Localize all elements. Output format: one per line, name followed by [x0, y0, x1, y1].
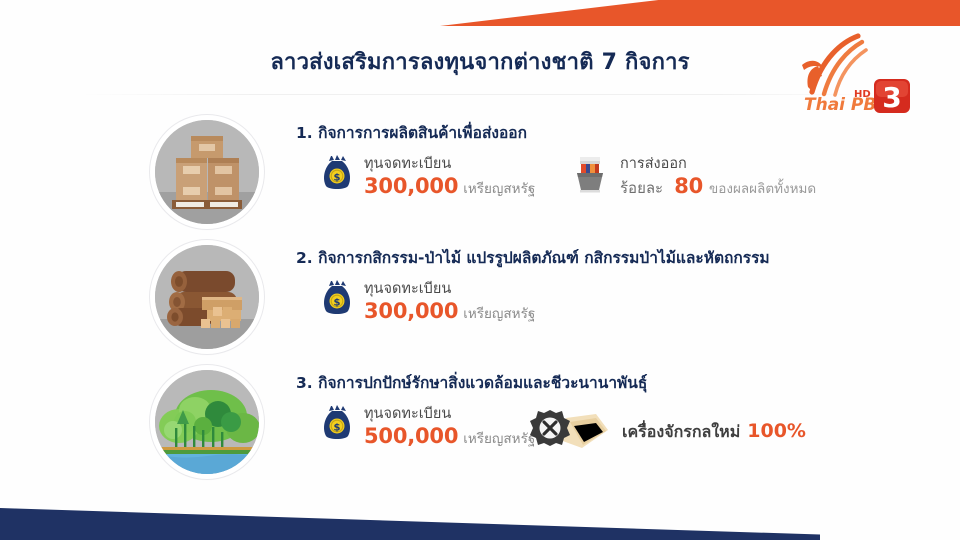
capital-currency: เหรียญสหรัฐ: [463, 181, 535, 197]
fact-label-registered-capital: ทุนจดทะเบียน: [364, 406, 451, 422]
thai-pbs-channel-logo: Thai PBS HD 3: [796, 32, 932, 116]
cargo-ship-icon: [570, 152, 610, 196]
thumbnail-forest-river: [155, 370, 259, 474]
fact-export-share-1: การส่งออก ร้อยละ 80ของผลผลิตทั้งหมด: [570, 152, 816, 199]
svg-text:$: $: [334, 422, 341, 433]
fact-new-machinery-3: เครื่องจักรกลใหม่100%: [526, 408, 806, 456]
item-title-2: 2. กิจการกสิกรรม-ป่าไม้ แปรรูปผลิตภัณฑ์ …: [296, 249, 920, 268]
fact-text-2a: ทุนจดทะเบียน 300,000เหรียญสหรัฐ: [364, 277, 535, 324]
svg-text:$: $: [334, 297, 341, 308]
fact-label-registered-capital: ทุนจดทะเบียน: [364, 156, 451, 172]
svg-text:3: 3: [882, 81, 901, 114]
item-body-1: 1. กิจการการผลิตสินค้าเพื่อส่งออก $ ทุ: [296, 118, 920, 214]
item-facts-1: $ ทุนจดทะเบียน 300,000เหรียญสหรัฐ: [296, 152, 920, 214]
capital-currency: เหรียญสหรัฐ: [463, 431, 535, 447]
item-title-3: 3. กิจการปกปักษ์รักษาสิ่งแวดล้อมและชีวะน…: [296, 374, 920, 393]
fact-text-3a: ทุนจดทะเบียน 500,000เหรียญสหรัฐ: [364, 402, 535, 449]
fact-label-registered-capital: ทุนจดทะเบียน: [364, 281, 451, 297]
machinery-percent: 100%: [747, 420, 806, 442]
money-bag-icon: $: [320, 402, 354, 442]
capital-amount: 300,000: [364, 299, 458, 323]
infographic-slide: ลาวส่งเสริมการลงทุนจากต่างชาติ 7 กิจการ …: [0, 0, 960, 540]
svg-text:$: $: [334, 172, 341, 183]
capital-amount: 500,000: [364, 424, 458, 448]
money-bag-icon: $: [320, 277, 354, 317]
fact-label-export: การส่งออก: [620, 156, 687, 172]
fact-registered-capital-1: $ ทุนจดทะเบียน 300,000เหรียญสหรัฐ: [320, 152, 535, 199]
fact-value-registered-capital: 300,000เหรียญสหรัฐ: [364, 299, 535, 324]
fact-text-3b: เครื่องจักรกลใหม่100%: [622, 419, 806, 445]
item-facts-2: $ ทุนจดทะเบียน 300,000เหรียญสหรัฐ: [296, 277, 920, 339]
item-row-1: 1. กิจการการผลิตสินค้าเพื่อส่งออก $ ทุ: [0, 118, 960, 236]
svg-text:HD: HD: [854, 89, 871, 100]
item-facts-3: $ ทุนจดทะเบียน 500,000เหรียญสหรัฐ: [296, 402, 920, 464]
fact-value-registered-capital: 500,000เหรียญสหรัฐ: [364, 424, 535, 449]
export-suffix: ของผลผลิตทั้งหมด: [709, 181, 816, 197]
top-orange-band: [440, 0, 960, 26]
gear-machinery-icon: [526, 408, 612, 456]
fact-text-1a: ทุนจดทะเบียน 300,000เหรียญสหรัฐ: [364, 152, 535, 199]
machinery-label: เครื่องจักรกลใหม่: [622, 422, 740, 441]
item-body-3: 3. กิจการปกปักษ์รักษาสิ่งแวดล้อมและชีวะน…: [296, 368, 920, 464]
export-percent: 80: [674, 174, 703, 198]
item-body-2: 2. กิจการกสิกรรม-ป่าไม้ แปรรูปผลิตภัณฑ์ …: [296, 243, 920, 339]
item-title-1: 1. กิจการการผลิตสินค้าเพื่อส่งออก: [296, 124, 920, 143]
timber-logs-icon: [167, 271, 242, 328]
money-bag-icon: $: [320, 152, 354, 192]
fact-registered-capital-2: $ ทุนจดทะเบียน 300,000เหรียญสหรัฐ: [320, 277, 535, 324]
header-divider: [78, 94, 878, 95]
export-prefix: ร้อยละ: [620, 179, 663, 197]
fact-text-1b: การส่งออก ร้อยละ 80ของผลผลิตทั้งหมด: [620, 152, 816, 199]
capital-amount: 300,000: [364, 174, 458, 198]
item-row-2: 2. กิจการกสิกรรม-ป่าไม้ แปรรูปผลิตภัณฑ์ …: [0, 243, 960, 361]
item-row-3: 3. กิจการปกปักษ์รักษาสิ่งแวดล้อมและชีวะน…: [0, 368, 960, 486]
fact-value-export: ร้อยละ 80ของผลผลิตทั้งหมด: [620, 174, 816, 199]
fact-value-registered-capital: 300,000เหรียญสหรัฐ: [364, 174, 535, 199]
fact-registered-capital-3: $ ทุนจดทะเบียน 500,000เหรียญสหรัฐ: [320, 402, 535, 449]
capital-currency: เหรียญสหรัฐ: [463, 306, 535, 322]
bottom-navy-band: [0, 506, 820, 540]
thumbnail-timber-logs: [155, 245, 259, 349]
thumbnail-cardboard-boxes: [155, 120, 259, 224]
